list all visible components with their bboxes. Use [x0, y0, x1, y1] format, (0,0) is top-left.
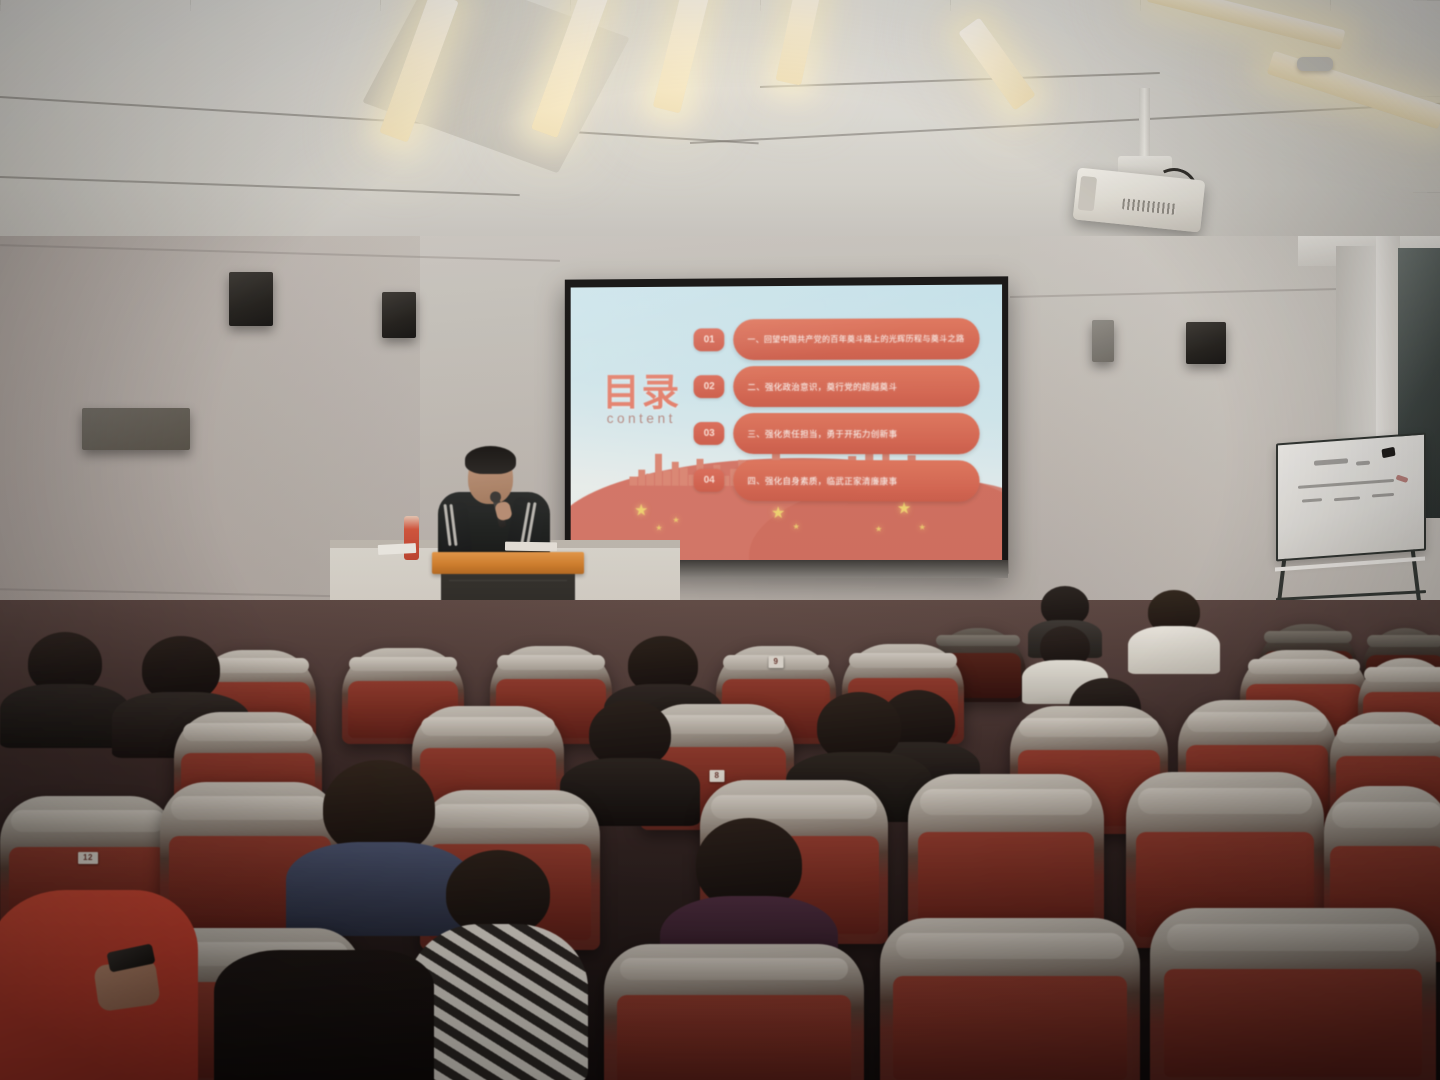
audience-member-checkered — [408, 850, 588, 1080]
slide-star-icon: ★ — [655, 525, 662, 533]
whiteboard-writing — [1302, 498, 1322, 502]
slide-toc-text: 三、强化责任担当，勇于开拓力创新事 — [733, 413, 980, 454]
auditorium-seat — [880, 918, 1140, 1080]
slide-star-icon: ★ — [672, 517, 679, 525]
whiteboard-writing — [1356, 461, 1370, 466]
audience-member-white-hoodie — [1128, 590, 1220, 670]
presenter-hair — [465, 446, 516, 474]
slide-toc-item: 04 四、强化自身素质，临武正家清廉康事 — [694, 460, 980, 502]
ceiling — [0, 0, 1440, 248]
slide-star-icon: ★ — [919, 523, 926, 531]
slide-toc-item: 03 三、强化责任担当，勇于开拓力创新事 — [694, 413, 980, 454]
seat-number-label: 12 — [78, 852, 98, 864]
projector-vent-icon — [1122, 198, 1177, 215]
slide-star-icon: ★ — [793, 523, 800, 531]
seat-number-label: 9 — [769, 656, 784, 668]
slide-star-icon: ★ — [634, 503, 648, 519]
slide-star-icon: ★ — [897, 501, 911, 517]
podium-top — [432, 552, 584, 574]
whiteboard-writing — [1314, 458, 1348, 465]
auditorium-seat — [1150, 908, 1436, 1080]
slide-toc-number: 01 — [694, 329, 725, 352]
projector-mount-pole — [1139, 88, 1150, 160]
audience-torso — [0, 684, 130, 748]
slide-star-icon: ★ — [771, 506, 785, 522]
whiteboard-writing — [1298, 479, 1394, 489]
slide-toc-text: 二、强化政治意识，奠行党的超越奠斗 — [733, 366, 980, 408]
wall-panel-left — [82, 408, 190, 450]
audience-torso — [214, 950, 434, 1080]
ceiling-tile-grid — [0, 0, 1440, 248]
slide-toc-number: 04 — [694, 469, 725, 492]
papers-on-podium — [505, 542, 557, 552]
slide-toc-text: 四、强化自身素质，临武正家清廉康事 — [733, 460, 980, 502]
audience-torso — [408, 924, 588, 1080]
slide-toc-item: 02 二、强化政治意识，奠行党的超越奠斗 — [694, 366, 980, 408]
slide-heading-cn: 目录 — [602, 361, 681, 416]
audience-torso — [1128, 626, 1220, 674]
whiteboard — [1276, 432, 1426, 561]
projection-screen-frame: ★ ★ ★ ★ ★ ★ ★ ★ 目录 content 01 一、回望中国共产党的… — [565, 276, 1008, 573]
lecture-hall-photo: ★ ★ ★ ★ ★ ★ ★ ★ 目录 content 01 一、回望中国共产党的… — [0, 0, 1440, 1080]
wall-speaker-right-1 — [1092, 320, 1114, 362]
smoke-detector-icon — [1297, 57, 1333, 71]
slide-heading-en: content — [607, 410, 676, 426]
papers-on-desk — [378, 543, 416, 555]
slide-toc-list: 01 一、回望中国共产党的百年奠斗路上的光辉历程与奠斗之路 02 二、强化政治意… — [694, 318, 980, 502]
whiteboard-writing — [1396, 475, 1409, 483]
wall-speaker-left-2 — [382, 292, 416, 338]
presentation-slide: ★ ★ ★ ★ ★ ★ ★ ★ 目录 content 01 一、回望中国共产党的… — [571, 284, 1002, 565]
whiteboard-writing — [1334, 496, 1360, 501]
slide-toc-text: 一、回望中国共产党的百年奠斗路上的光辉历程与奠斗之路 — [733, 318, 980, 360]
wall-speaker-left-1 — [229, 272, 273, 326]
wall-speaker-right-2 — [1186, 322, 1226, 364]
slide-star-icon: ★ — [875, 526, 882, 534]
whiteboard-writing — [1372, 493, 1394, 498]
audience-member — [214, 950, 434, 1080]
audience-member — [0, 632, 130, 742]
auditorium-seat — [604, 944, 864, 1080]
projection-screen: ★ ★ ★ ★ ★ ★ ★ ★ 目录 content 01 一、回望中国共产党的… — [571, 284, 1002, 565]
slide-toc-number: 02 — [694, 376, 725, 399]
slide-toc-number: 03 — [694, 422, 725, 445]
slide-toc-item: 01 一、回望中国共产党的百年奠斗路上的光辉历程与奠斗之路 — [694, 318, 980, 360]
